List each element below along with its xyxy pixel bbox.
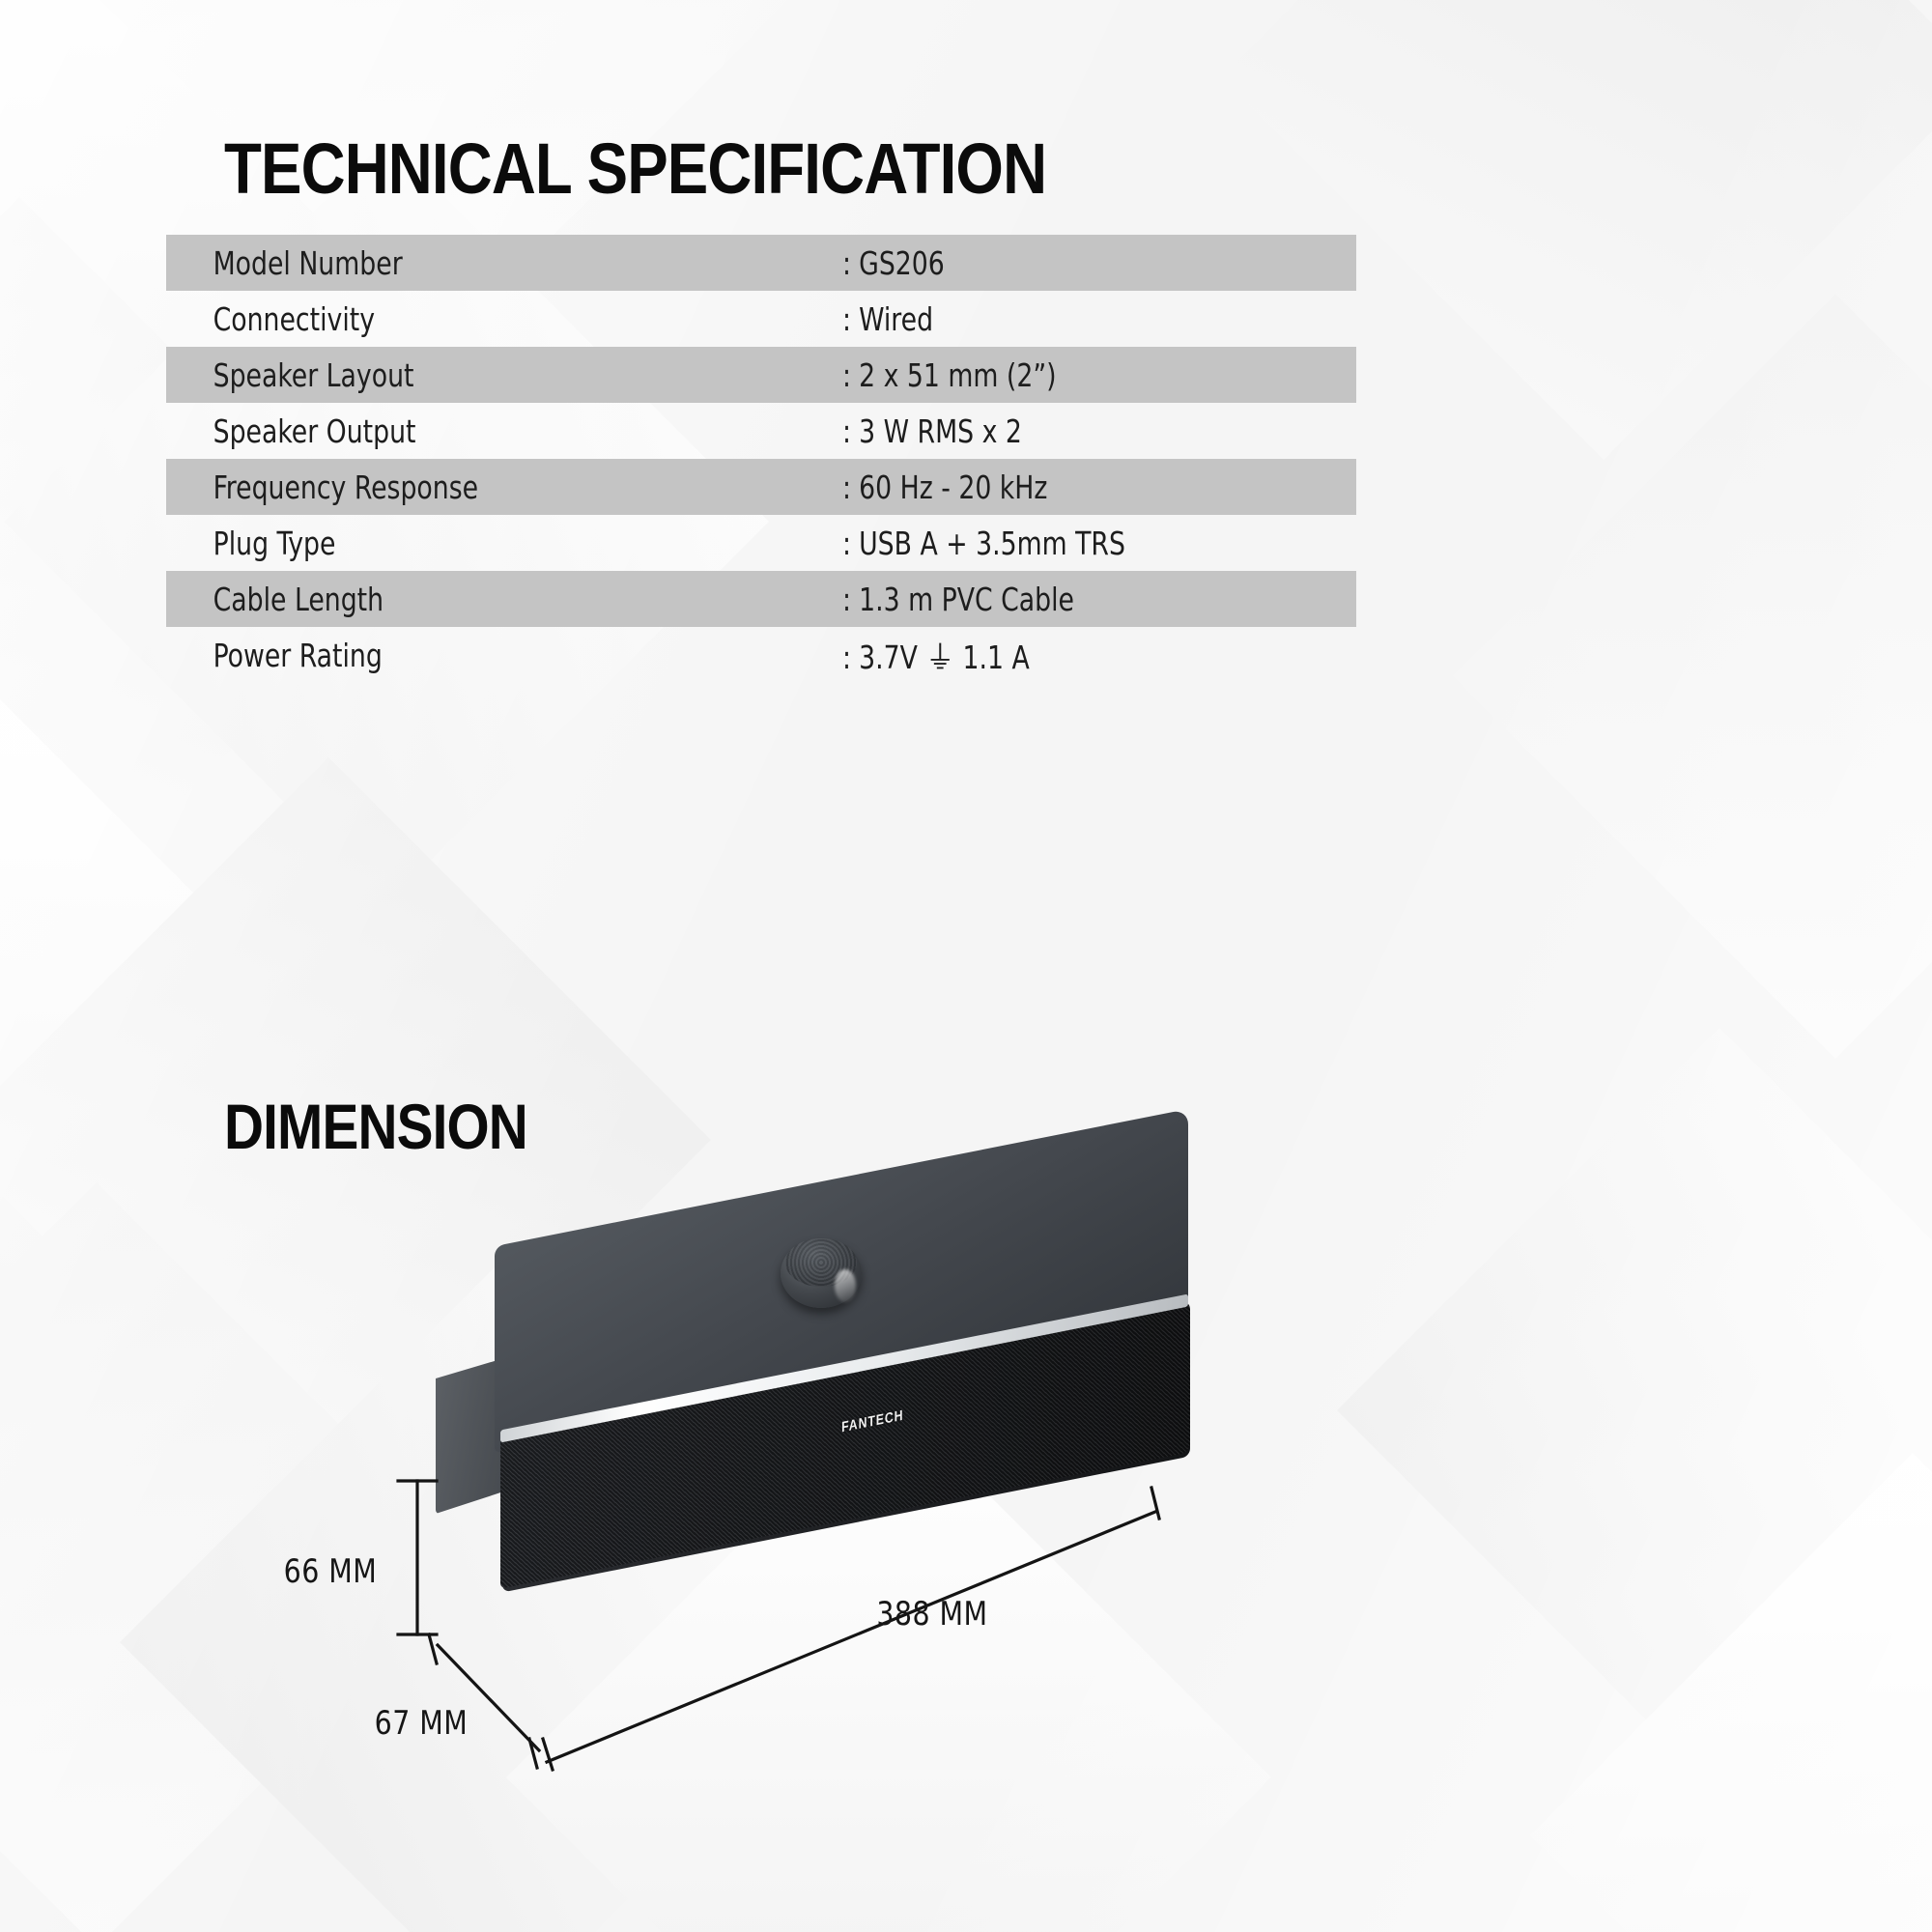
spec-label: Frequency Response <box>166 469 775 506</box>
table-row: Frequency Response : 60 Hz - 20 kHz <box>166 459 1356 515</box>
volume-knob-icon <box>781 1238 862 1308</box>
width-tick-start <box>543 1739 553 1770</box>
spec-label: Connectivity <box>166 300 775 338</box>
spec-label: Plug Type <box>166 525 775 562</box>
spec-value-text: GS206 <box>859 244 945 282</box>
spec-value-text: 1.3 m PVC Cable <box>859 581 1074 618</box>
soundbar-product-image: FANTECH <box>425 1169 1217 1604</box>
spec-value: : 2 x 51 mm (2”) <box>842 356 1057 394</box>
depth-tick-start <box>429 1634 437 1663</box>
spec-value-text: 3 W RMS x 2 <box>859 412 1022 450</box>
spec-label: Power Rating <box>166 637 775 674</box>
table-row: Connectivity : Wired <box>166 291 1356 347</box>
spec-value: : 3.7V ⏚ 1.1 A <box>842 632 1030 678</box>
dimension-label-depth: 67 MM <box>375 1704 469 1743</box>
knob-highlight <box>835 1269 856 1302</box>
spec-value-text: USB A + 3.5mm TRS <box>859 525 1125 562</box>
spec-label: Model Number <box>166 244 775 282</box>
depth-tick-end <box>529 1739 537 1768</box>
page-title-technical-specification: TECHNICAL SPECIFICATION <box>224 128 1046 210</box>
spec-colon: : <box>842 581 851 618</box>
spec-label: Speaker Output <box>166 412 775 450</box>
spec-value: : USB A + 3.5mm TRS <box>842 525 1125 562</box>
table-row: Plug Type : USB A + 3.5mm TRS <box>166 515 1356 571</box>
spec-value-text: 60 Hz - 20 kHz <box>859 469 1047 506</box>
spec-value-text: 3.7V ⏚ 1.1 A <box>859 632 1030 678</box>
spec-value: : Wired <box>842 300 933 338</box>
spec-label: Cable Length <box>166 581 775 618</box>
spec-value: : 3 W RMS x 2 <box>842 412 1022 450</box>
spec-label: Speaker Layout <box>166 356 775 394</box>
table-row: Cable Length : 1.3 m PVC Cable <box>166 571 1356 627</box>
spec-value: : GS206 <box>842 244 945 282</box>
spec-value-text: Wired <box>859 300 933 338</box>
spec-colon: : <box>842 300 851 338</box>
dimension-label-height: 66 MM <box>284 1552 378 1591</box>
dimension-label-width: 388 MM <box>876 1595 987 1634</box>
spec-value-text: 2 x 51 mm (2”) <box>859 356 1056 394</box>
table-row: Model Number : GS206 <box>166 235 1356 291</box>
table-row: Speaker Layout : 2 x 51 mm (2”) <box>166 347 1356 403</box>
spec-colon: : <box>842 525 851 562</box>
spec-value: : 1.3 m PVC Cable <box>842 581 1074 618</box>
page-title-dimension: DIMENSION <box>224 1090 527 1163</box>
spec-colon: : <box>842 244 851 282</box>
spec-colon: : <box>842 356 851 394</box>
spec-colon: : <box>842 469 851 506</box>
spec-value: : 60 Hz - 20 kHz <box>842 469 1047 506</box>
specification-table: Model Number : GS206 Connectivity : Wire… <box>166 235 1356 683</box>
table-row: Speaker Output : 3 W RMS x 2 <box>166 403 1356 459</box>
table-row: Power Rating : 3.7V ⏚ 1.1 A <box>166 627 1356 683</box>
spec-colon: : <box>842 412 851 450</box>
spec-colon: : <box>842 639 851 676</box>
